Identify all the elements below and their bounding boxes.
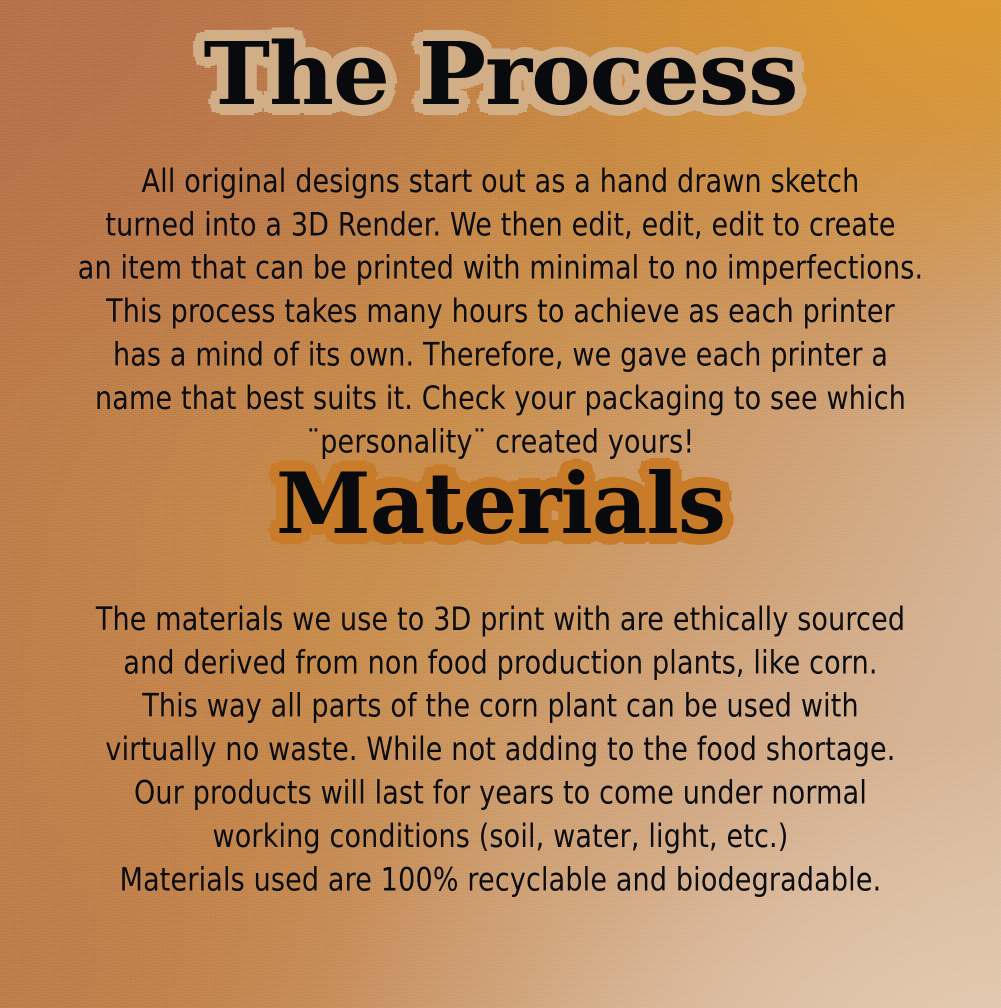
process-body-text: All original designs start out as a hand… bbox=[50, 160, 951, 464]
process-heading: The Process bbox=[0, 32, 1001, 118]
materials-body-text: The materials we use to 3D print with ar… bbox=[50, 598, 951, 902]
poster-content: The Process All original designs start o… bbox=[0, 0, 1001, 1008]
poster-canvas: The Process All original designs start o… bbox=[0, 0, 1001, 1008]
materials-heading: Materials bbox=[0, 462, 1001, 546]
